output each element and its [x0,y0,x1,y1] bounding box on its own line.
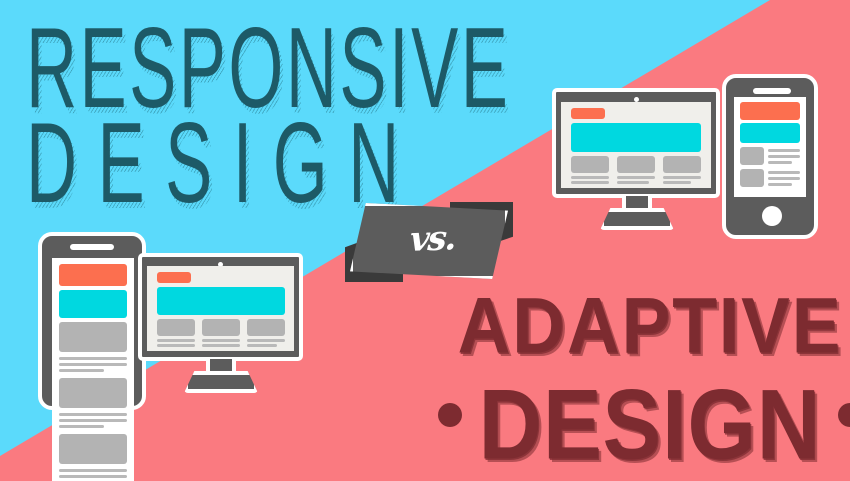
wireframe-text-line [59,369,104,372]
wireframe-text-line [768,171,800,174]
wireframe-text-line [59,469,127,472]
wireframe-image-block [157,319,195,336]
wireframe-hero-banner [157,287,285,315]
wireframe-header-banner [571,108,605,119]
wireframe-image-block [663,156,701,173]
wireframe-hero-banner [59,290,127,318]
adaptive-headline-row-2: DESIGN [455,361,845,468]
monitor-base [184,371,258,393]
versus-label: vs. [408,218,456,260]
wireframe-image-block [59,434,127,464]
wireframe-text-line [247,344,277,347]
wireframe-text-line [768,183,792,186]
wireframe-image-block [247,319,285,336]
wireframe-image-block [59,322,127,352]
wireframe-text-line [59,413,127,416]
wireframe-text-line [571,181,609,184]
desktop-monitor-screen [561,102,711,188]
wireframe-text-line [59,363,127,366]
wireframe-image-block [740,147,764,165]
bullet-dot-left-icon [438,403,462,427]
responsive-phone-mockup [38,232,146,481]
adaptive-phone-mockup [722,74,818,239]
adaptive-headline: ADAPTIVE DESIGN [455,281,845,468]
wireframe-text-line [202,344,240,347]
versus-badge: vs. [345,198,513,284]
wireframe-hero-banner [740,123,800,143]
wireframe-image-block [571,156,609,173]
wireframe-text-line [617,176,655,179]
wireframe-image-block [740,169,764,187]
wireframe-text-line [768,155,800,158]
wireframe-text-line [663,176,701,179]
wireframe-header-banner [59,264,127,286]
responsive-headline: RESPONSIVE RESPONSIVE DESIGN DESIGN [26,17,398,217]
wireframe-text-line [768,161,792,164]
wireframe-text-line [59,419,127,422]
wireframe-text-line [59,357,127,360]
wireframe-text-line [768,177,800,180]
wireframe-text-line [59,425,104,428]
bullet-dot-right-icon [838,403,850,427]
desktop-monitor-screen [147,266,294,351]
wireframe-image-block [202,319,240,336]
versus-ribbon-body: vs. [350,203,508,279]
wireframe-text-line [768,149,800,152]
wireframe-text-line [617,181,649,184]
wireframe-text-line [247,339,285,342]
wireframe-text-line [157,339,195,342]
monitor-base [600,208,674,230]
wireframe-header-banner [740,102,800,120]
adaptive-desktop-mockup [552,88,724,230]
adaptive-headline-line-1: ADAPTIVE [447,281,850,371]
wireframe-image-block [59,378,127,408]
responsive-phone-screen [52,258,134,481]
wireframe-image-block [617,156,655,173]
wireframe-text-line [571,176,609,179]
poster-canvas: RESPONSIVE RESPONSIVE DESIGN DESIGN [0,0,850,481]
phone-home-button[interactable] [762,206,782,226]
wireframe-hero-banner [571,123,701,152]
wireframe-text-line [202,339,240,342]
phone-speaker-icon [753,88,791,94]
adaptive-phone-screen [734,97,806,197]
responsive-desktop-mockup [138,253,310,393]
wireframe-text-line [59,475,127,478]
adaptive-headline-line-2: DESIGN [479,369,821,481]
wireframe-text-line [663,181,691,184]
wireframe-header-banner [157,272,191,283]
wireframe-text-line [157,344,195,347]
phone-speaker-icon [70,244,114,250]
responsive-headline-line-2: DESIGN DESIGN [26,112,257,217]
